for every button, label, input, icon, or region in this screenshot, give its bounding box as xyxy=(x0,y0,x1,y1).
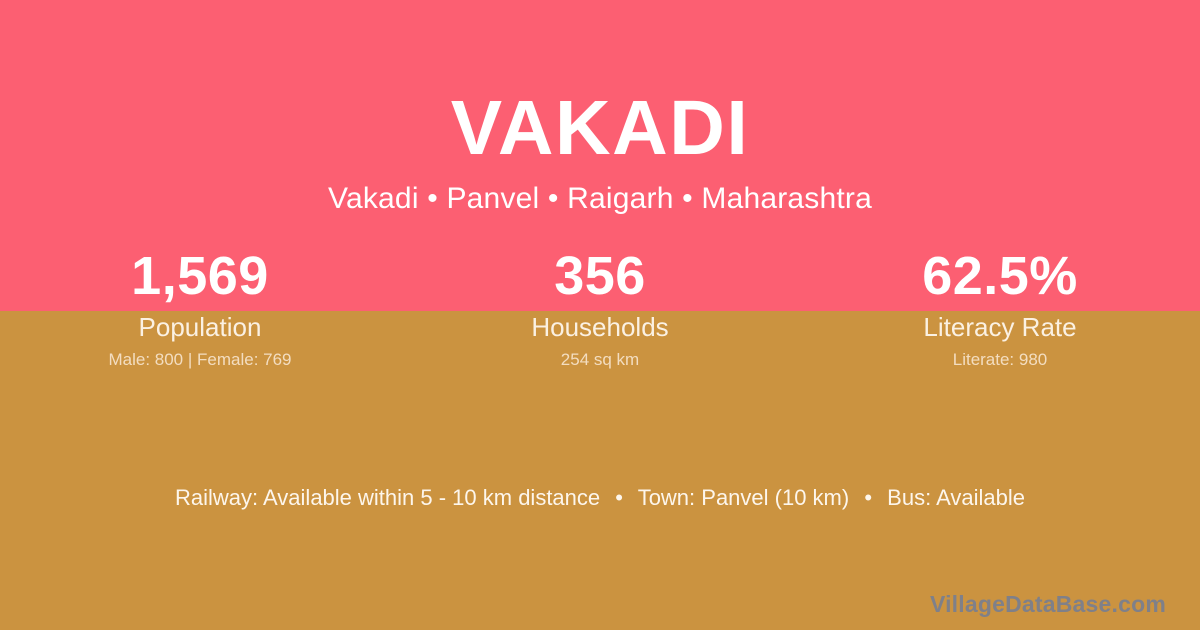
stat-households-sub: 254 sq km xyxy=(400,349,800,370)
stat-literacy-rate: 62.5% Literacy Rate Literate: 980 xyxy=(800,244,1200,370)
stat-literacy-rate-sub: Literate: 980 xyxy=(800,349,1200,370)
amenities-line: Railway: Available within 5 - 10 km dist… xyxy=(0,483,1200,513)
amenity-railway: Railway: Available within 5 - 10 km dist… xyxy=(175,485,600,510)
amenity-bus: Bus: Available xyxy=(887,485,1025,510)
amenity-separator-1: • xyxy=(606,483,632,513)
amenity-town: Town: Panvel (10 km) xyxy=(638,485,850,510)
stat-households-label: Households xyxy=(400,312,800,343)
amenity-separator-2: • xyxy=(855,483,881,513)
site-brand-watermark: VillageDataBase.com xyxy=(930,590,1166,618)
stat-households: 356 Households 254 sq km xyxy=(400,244,800,370)
village-info-card: VAKADI Vakadi • Panvel • Raigarh • Mahar… xyxy=(0,0,1200,630)
breadcrumb: Vakadi • Panvel • Raigarh • Maharashtra xyxy=(0,181,1200,217)
page-title: VAKADI xyxy=(0,84,1200,172)
stat-literacy-rate-value: 62.5% xyxy=(800,244,1200,308)
stats-row: 1,569 Population Male: 800 | Female: 769… xyxy=(0,244,1200,370)
stat-population-sub: Male: 800 | Female: 769 xyxy=(0,349,400,370)
stat-population-value: 1,569 xyxy=(0,244,400,308)
stat-population-label: Population xyxy=(0,312,400,343)
stat-population: 1,569 Population Male: 800 | Female: 769 xyxy=(0,244,400,370)
stat-literacy-rate-label: Literacy Rate xyxy=(800,312,1200,343)
stat-households-value: 356 xyxy=(400,244,800,308)
